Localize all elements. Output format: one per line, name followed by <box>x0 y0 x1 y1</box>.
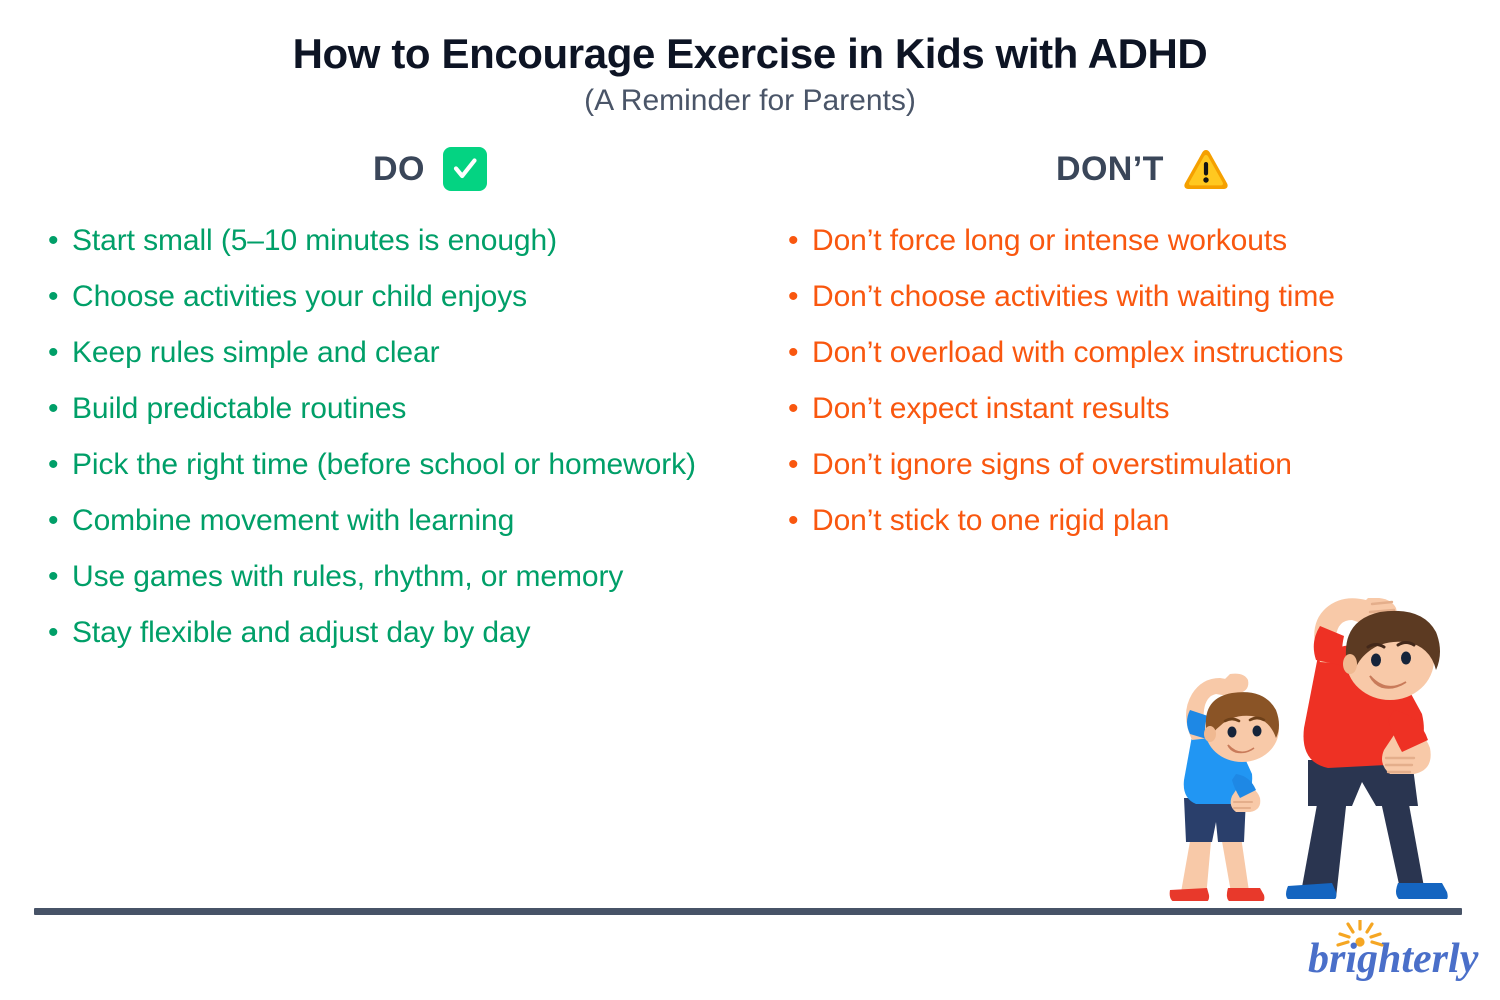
dont-label: DON’T <box>1056 150 1164 189</box>
do-list: Start small (5–10 minutes is enough) Cho… <box>44 213 734 661</box>
logo-wordmark: brighterly <box>1308 936 1479 982</box>
child-figure <box>1169 674 1279 906</box>
brighterly-logo: brighterly <box>1308 920 1488 982</box>
warning-triangle-icon <box>1182 147 1230 191</box>
list-item: Keep rules simple and clear <box>44 325 734 381</box>
do-label: DO <box>373 150 425 189</box>
list-item: Combine movement with learning <box>44 493 734 549</box>
header: How to Encourage Exercise in Kids with A… <box>0 0 1500 119</box>
list-item: Don’t overload with complex instruc­tion… <box>784 325 1484 381</box>
list-item: Don’t choose activities with waiting tim… <box>784 269 1484 325</box>
ground-line <box>34 908 1462 915</box>
dont-list: Don’t force long or intense workouts Don… <box>784 213 1484 549</box>
list-item: Don’t force long or intense workouts <box>784 213 1484 269</box>
list-item: Don’t expect instant results <box>784 381 1484 437</box>
list-item: Pick the right time (before school or ho… <box>44 437 734 493</box>
list-item: Choose activities your child enjoys <box>44 269 734 325</box>
do-column-heading: DO <box>373 146 487 192</box>
dont-column-heading: DON’T <box>1056 146 1230 192</box>
list-item: Use games with rules, rhythm, or memory <box>44 549 734 605</box>
adult-figure <box>1286 598 1449 905</box>
list-item: Stay flexible and adjust day by day <box>44 605 734 661</box>
two-people-side-stretch-illustration <box>1140 598 1490 916</box>
page-subtitle: (A Reminder for Parents) <box>0 83 1500 119</box>
page-title: How to Encourage Exercise in Kids with A… <box>0 30 1500 77</box>
list-item: Build predictable routines <box>44 381 734 437</box>
check-mark-icon <box>443 147 487 191</box>
list-item: Don’t ignore signs of overstimulation <box>784 437 1484 493</box>
list-item: Don’t stick to one rigid plan <box>784 493 1484 549</box>
list-item: Start small (5–10 minutes is enough) <box>44 213 734 269</box>
